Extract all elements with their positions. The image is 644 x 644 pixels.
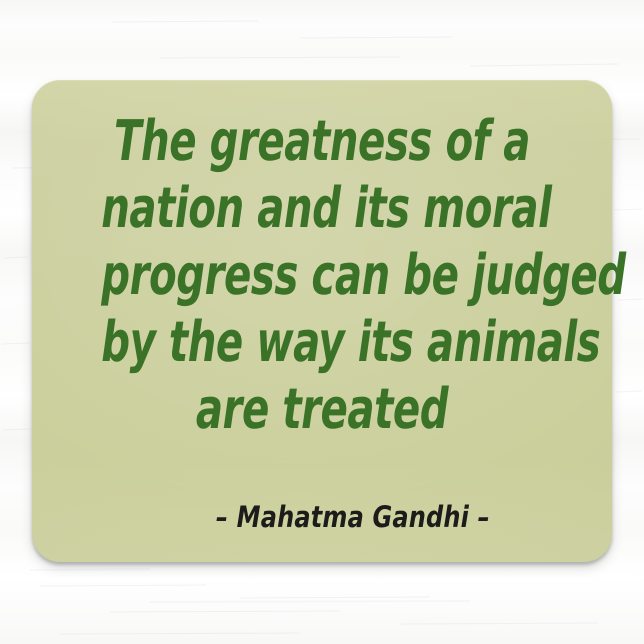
quote-attribution: – Mahatma Gandhi – bbox=[32, 500, 612, 534]
quote-line-1: The greatness of a bbox=[101, 108, 543, 175]
product-photo-scene: The greatness of a nation and its moral … bbox=[0, 0, 644, 644]
attribution-text: – Mahatma Gandhi – bbox=[216, 500, 490, 534]
quote-block: The greatness of a nation and its moral … bbox=[32, 108, 612, 443]
quote-line-3: progress can be judged bbox=[101, 242, 543, 309]
quote-line-2: nation and its moral bbox=[101, 175, 543, 242]
mousepad-surface[interactable]: The greatness of a nation and its moral … bbox=[32, 80, 612, 562]
quote-line-4: by the way its animals bbox=[101, 309, 543, 376]
quote-line-5: are treated bbox=[101, 376, 543, 443]
